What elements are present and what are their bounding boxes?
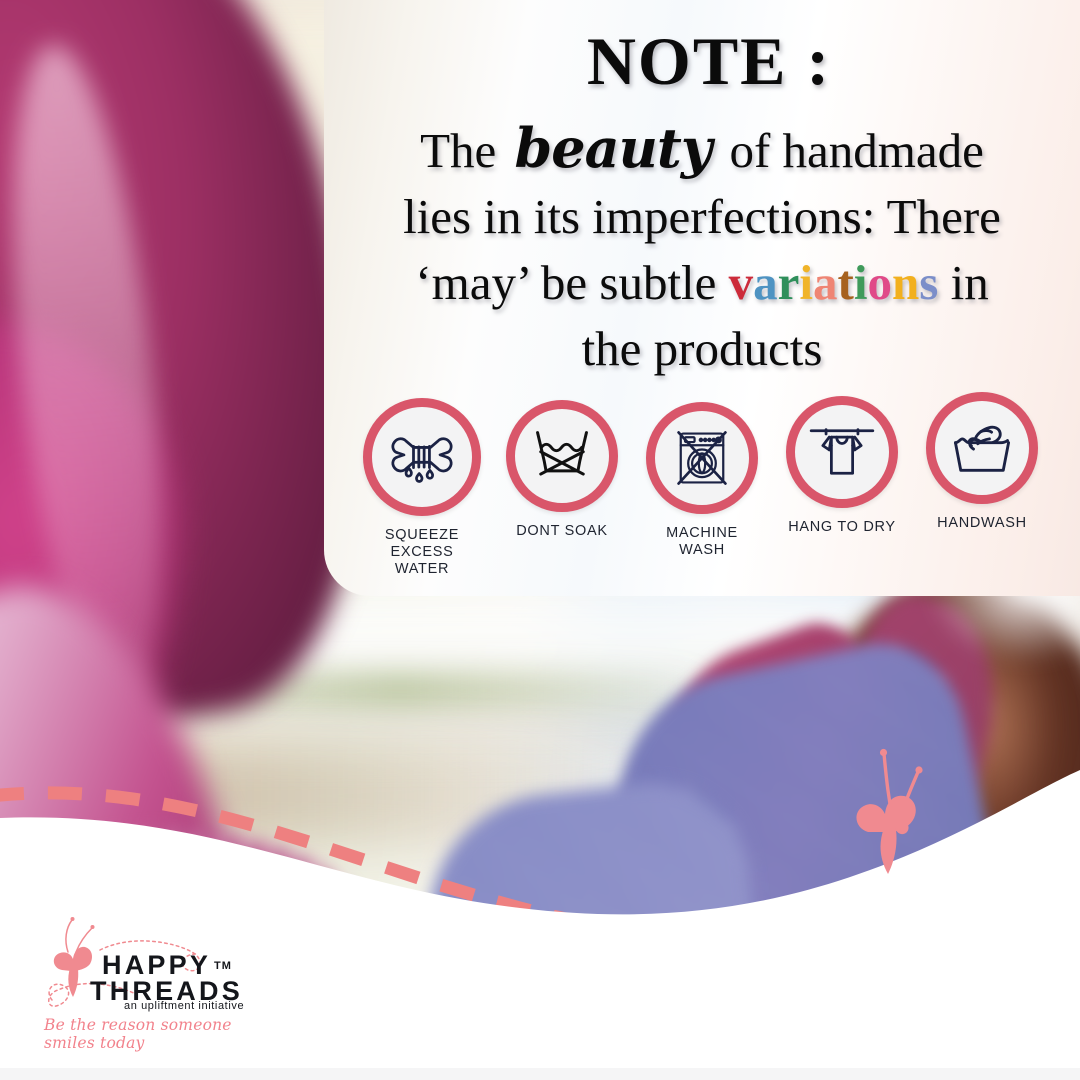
care-item-machine-wash[interactable]: MACHINE WASH: [642, 402, 762, 559]
variations-letter-3: r: [778, 255, 800, 310]
logo-subtitle: an upliftment initiative: [124, 1000, 244, 1012]
note-text-run: lies in its imperfections: There: [403, 189, 1001, 244]
note-text-run: ‘may’ be subtle: [415, 255, 728, 310]
no-soak-icon: [528, 422, 596, 490]
care-label-1: SQUEEZE EXCESS WATER: [362, 527, 482, 578]
care-item-hang-to-dry[interactable]: HANG TO DRY: [782, 396, 902, 536]
variations-letter-2: a: [753, 255, 778, 310]
note-body-line-3: ‘may’ be subtle variations in: [358, 250, 1046, 316]
variations-letter-5: a: [813, 255, 838, 310]
variations-letter-4: i: [799, 255, 813, 310]
care-instructions-row: SQUEEZE EXCESS WATER DONT SOAK: [324, 398, 1080, 578]
note-text-run: The: [420, 123, 508, 178]
care-label-5: HANDWASH: [937, 515, 1027, 532]
care-item-dont-soak[interactable]: DONT SOAK: [502, 400, 622, 540]
brand-logo[interactable]: HAPPY THREADS TM an upliftment initiativ…: [40, 908, 290, 1048]
logo-trademark-symbol: TM: [214, 960, 232, 972]
care-item-handwash[interactable]: HANDWASH: [922, 392, 1042, 532]
variations-letter-9: n: [892, 255, 919, 310]
note-body: The beauty of handmadelies in its imperf…: [324, 115, 1080, 382]
care-circle-4: [786, 396, 898, 508]
note-text-run: in: [938, 255, 988, 310]
note-title: NOTE :: [324, 22, 1080, 101]
care-circle-3: [646, 402, 758, 514]
hang-to-dry-icon: [808, 418, 876, 486]
note-text-run: of handmade: [717, 123, 984, 178]
bottom-strip: [0, 1068, 1080, 1080]
care-circle-1: [363, 398, 481, 516]
logo-tagline: Be the reason someone smiles today: [44, 1016, 284, 1052]
beauty-script-word: beauty: [509, 116, 718, 180]
variations-letter-6: t: [838, 255, 854, 310]
note-body-line-1: The beauty of handmade: [358, 115, 1046, 184]
variations-letter-7: i: [854, 255, 868, 310]
butterfly-decoration-icon: [838, 728, 958, 878]
care-label-4: HANG TO DRY: [788, 519, 896, 536]
care-circle-2: [506, 400, 618, 512]
note-text-run: the products: [582, 321, 823, 376]
squeeze-water-icon: [388, 423, 456, 491]
note-body-line-2: lies in its imperfections: There: [358, 184, 1046, 250]
note-body-line-4: the products: [358, 316, 1046, 382]
care-circle-5: [926, 392, 1038, 504]
care-label-3: MACHINE WASH: [642, 525, 762, 559]
care-item-squeeze-excess-water[interactable]: SQUEEZE EXCESS WATER: [362, 398, 482, 578]
care-label-2: DONT SOAK: [516, 523, 607, 540]
variations-letter-8: o: [868, 255, 893, 310]
variations-letter-10: s: [919, 255, 938, 310]
no-machine-wash-icon: [668, 424, 736, 492]
handwash-icon: [948, 414, 1016, 482]
variations-letter-1: v: [729, 255, 754, 310]
variations-word: variations: [729, 255, 939, 310]
